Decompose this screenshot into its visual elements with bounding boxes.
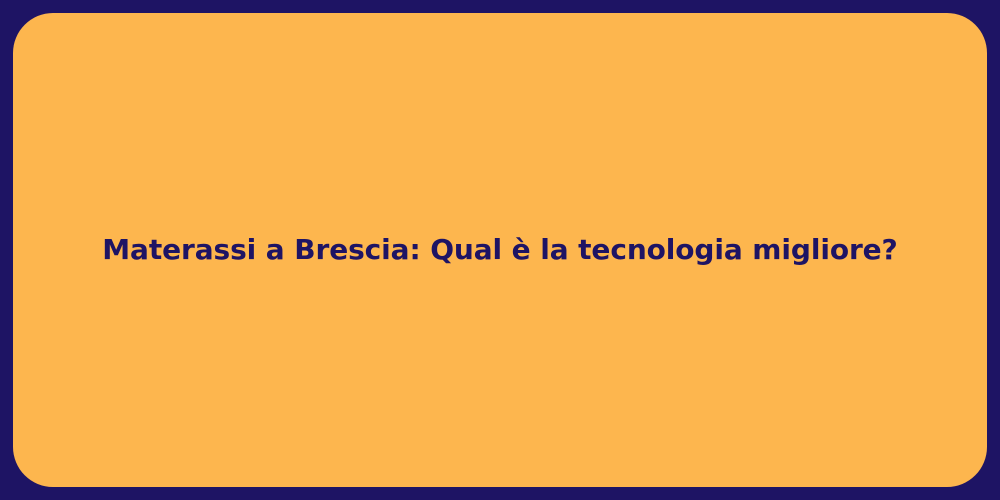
page-title: Materassi a Brescia: Qual è la tecnologi… bbox=[62, 231, 937, 269]
title-card: Materassi a Brescia: Qual è la tecnologi… bbox=[13, 13, 987, 487]
outer-frame: Materassi a Brescia: Qual è la tecnologi… bbox=[0, 0, 1000, 500]
